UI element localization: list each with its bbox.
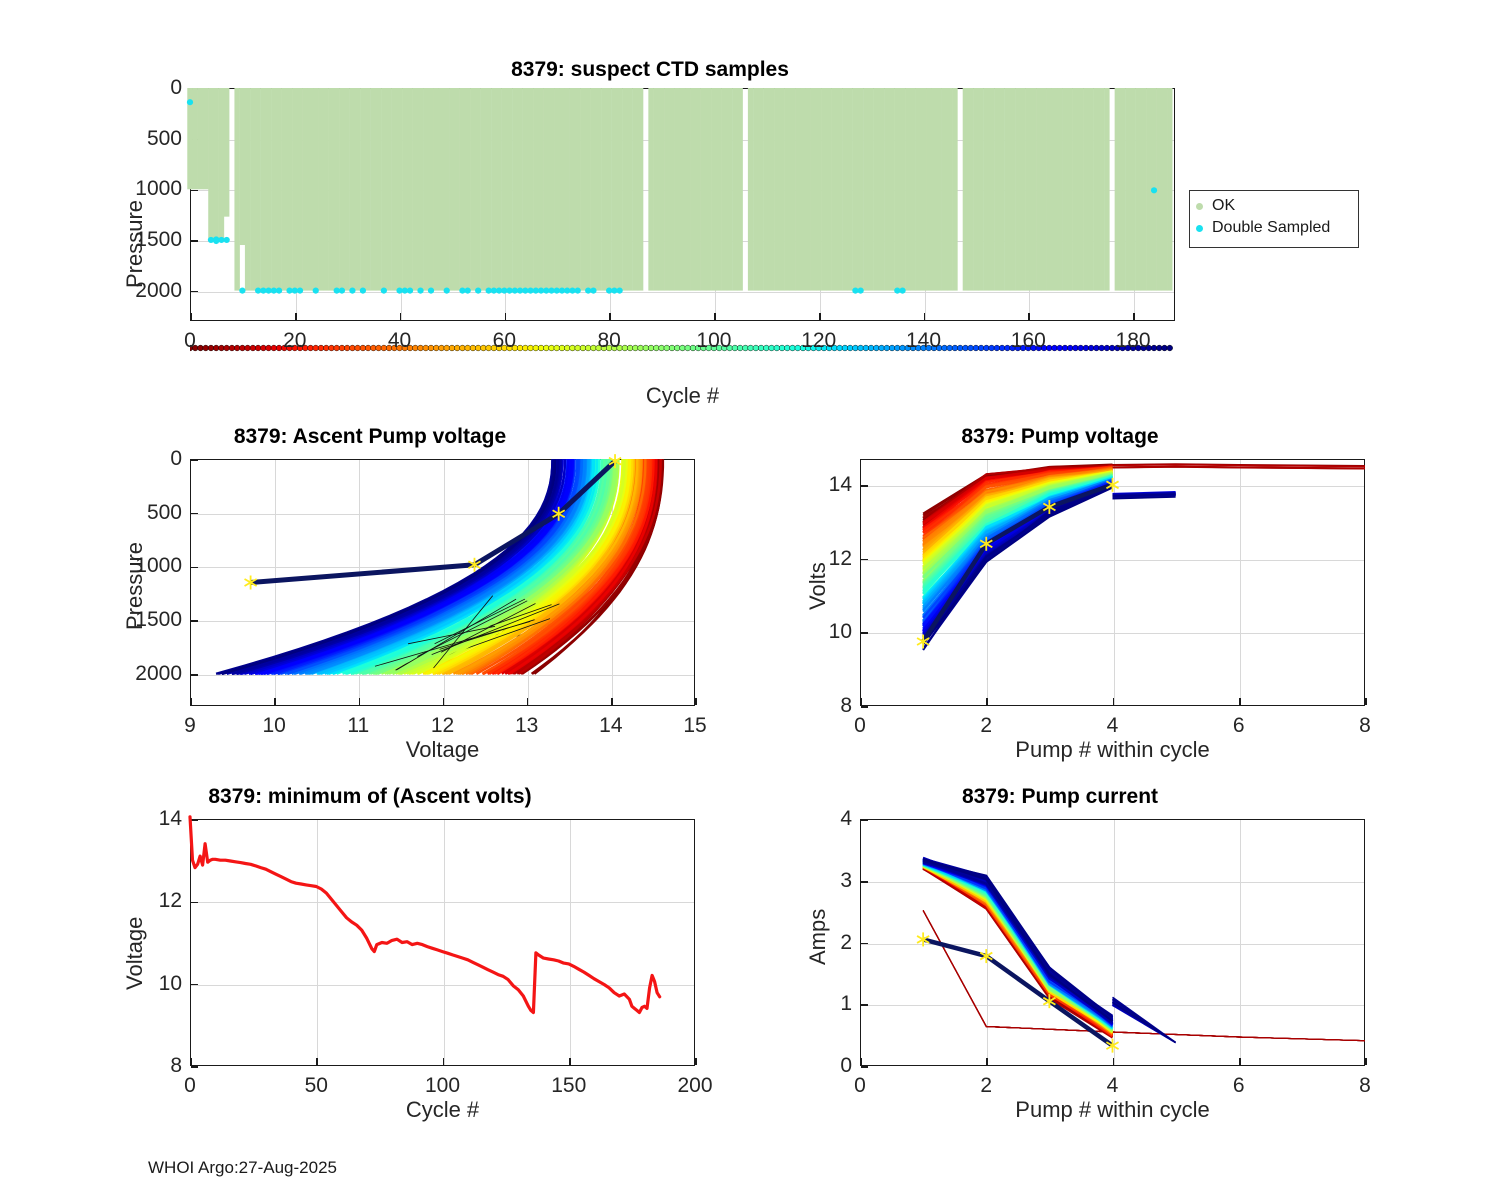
x-tick-label: 12 [431,714,454,738]
ok-band [282,88,287,291]
x-tick-label: 0 [184,329,196,353]
cycle-color-dot [622,345,628,351]
cycle-color-dot [1046,345,1052,351]
x-tick-label: 9 [184,714,196,738]
double-sampled-point [1151,187,1157,193]
ok-band [732,88,737,291]
x-tick-label: 4 [1107,1074,1119,1098]
ok-band [999,88,1004,291]
cycle-color-dot [968,345,974,351]
ok-band [413,88,418,291]
axis-label-pump-number-voltage: Pump # within cycle [860,737,1365,763]
double-sampled-point [444,288,450,294]
cycle-color-dot [842,345,848,351]
series-layer-pump-voltage [860,459,1365,706]
x-tick-label: 0 [854,1074,866,1098]
cycle-color-dot [900,345,906,351]
y-tick-label: 1 [790,992,852,1016]
cycle-color-dot [983,345,989,351]
ok-band [276,88,281,291]
ok-band [826,88,831,291]
x-tick-label: 60 [493,329,516,353]
cycle-color-dot [648,345,654,351]
series-layer-minimum-ascent-volts [190,819,695,1066]
ok-band [926,88,931,291]
ok-band [994,88,999,291]
panel-ascent-pump-voltage: 8379: Ascent Pump voltage Voltage Pressu… [0,415,720,775]
double-sampled-point [297,288,303,294]
double-sampled-point [899,288,905,294]
ok-band [371,88,376,291]
cycle-color-dot [564,345,570,351]
ok-band [863,88,868,291]
ok-band [858,88,863,291]
ok-band [764,88,769,291]
panel-title-pump-current: 8379: Pump current [730,785,1390,809]
ok-band [507,88,512,291]
ok-band [675,88,680,291]
ok-band [617,88,622,291]
cycle-color-dot [554,345,560,351]
ok-band [449,88,454,291]
cycle-color-dot [203,345,209,351]
cycle-color-dot [664,345,670,351]
ok-band [648,88,653,291]
ok-band [1104,88,1109,291]
double-sampled-point [428,288,434,294]
x-tick-label: 40 [388,329,411,353]
ok-band [612,88,617,291]
ok-band [266,88,271,291]
x-tick-label: 10 [262,714,285,738]
cycle-color-dot [973,345,979,351]
y-tick-label: 0 [790,1054,852,1078]
cycle-color-dot [1099,345,1105,351]
ok-band [198,88,203,189]
x-tick-label: 13 [515,714,538,738]
double-sampled-point [575,288,581,294]
ok-band [240,88,245,245]
ok-band [292,88,297,291]
cycle-color-dot [224,345,230,351]
cycle-color-dot [255,345,261,351]
ok-band [365,88,370,291]
ok-band [916,88,921,291]
ok-band [444,88,449,291]
double-sampled-point [213,238,219,244]
cycle-color-dot [1094,345,1100,351]
ok-band [271,88,276,291]
cycle-color-dot [470,345,476,351]
cycle-color-dot [942,345,948,351]
cycle-color-dot [329,345,335,351]
ok-band [664,88,669,291]
ok-band [837,88,842,291]
cycle-color-dot [234,345,240,351]
x-tick-label: 100 [425,1074,460,1098]
ok-band [481,88,486,291]
highlight-trace [923,939,1112,1045]
x-tick-label: 0 [854,714,866,738]
ok-band [423,88,428,291]
cycle-color-dot [339,345,345,351]
legend-suspect-ctd: OK Double Sampled [1189,190,1359,248]
ok-band [313,88,318,291]
double-sampled-point [224,237,230,243]
panel-pump-current: 8379: Pump current Pump # within cycle A… [700,775,1420,1145]
ok-band [334,88,339,291]
ok-band [392,88,397,291]
ok-band [952,88,957,291]
y-tick-label: 500 [120,501,182,525]
ok-band [832,88,837,291]
ok-band [402,88,407,291]
ok-band [355,88,360,291]
cycle-color-dot [863,345,869,351]
cycle-color-dot [873,345,879,351]
legend-swatch-double-sampled [1196,225,1203,232]
y-tick-label: 1000 [120,554,182,578]
ok-band [234,88,239,291]
cycle-color-dot [999,345,1005,351]
ok-band [512,88,517,291]
cycle-color-dot [659,345,665,351]
ok-band [779,88,784,291]
cycle-color-dot [685,345,691,351]
x-tick-label: 20 [283,329,306,353]
ok-band [376,88,381,291]
ok-band [716,88,721,291]
y-tick-label: 2 [790,931,852,955]
ok-band [1130,88,1135,291]
ok-band [596,88,601,291]
cycle-color-dot [952,345,958,351]
ok-band [790,88,795,291]
cycle-color-dot [313,345,319,351]
ok-band [654,88,659,291]
ok-band [1136,88,1141,291]
ok-band [973,88,978,291]
ok-band [397,88,402,291]
ok-band [350,88,355,291]
ok-band [1062,88,1067,291]
legend-swatch-ok [1196,203,1203,210]
double-sampled-point [617,288,623,294]
ok-band [428,88,433,291]
ok-band [978,88,983,291]
ok-band [533,88,538,291]
ok-band [538,88,543,291]
y-tick-label: 3 [790,869,852,893]
ok-band [1125,88,1130,291]
ok-band [690,88,695,291]
ok-band [496,88,501,291]
ok-band [339,88,344,291]
ok-band [806,88,811,291]
ok-band [711,88,716,291]
axis-label-voltage-ascent: Voltage [190,737,695,763]
double-sampled-point [349,288,355,294]
ok-band [884,88,889,291]
series-layer-ascent-pump-voltage [190,459,695,706]
y-tick-label: 4 [790,807,852,831]
minimum-ascent-volts-line [190,817,660,1013]
axis-label-cycle-number-min: Cycle # [190,1097,695,1123]
y-tick-label: 12 [790,547,852,571]
cycle-color-dot [690,345,696,351]
footer-credit: WHOI Argo:27-Aug-2025 [148,1158,337,1178]
cycle-color-dot [308,345,314,351]
cycle-color-dot [276,345,282,351]
cycle-color-dot [271,345,277,351]
double-sampled-point [590,288,596,294]
cycle-color-dot [318,345,324,351]
ok-band [303,88,308,291]
panel-title-ascent-pump-voltage: 8379: Ascent Pump voltage [40,425,700,449]
cycle-color-dot [1004,345,1010,351]
cycle-color-dot [428,345,434,351]
cycle-color-dot [444,345,450,351]
ok-band [1094,88,1099,291]
cycle-color-dot [559,345,565,351]
ok-band [1005,88,1010,291]
cycle-color-dot [1151,345,1157,351]
x-tick-label: 160 [1011,329,1046,353]
cycle-color-dot [522,345,528,351]
y-tick-label: 8 [790,694,852,718]
ok-band [811,88,816,291]
cycle-color-dot [643,345,649,351]
cycle-color-dot [412,345,418,351]
ok-band [889,88,894,291]
x-tick-label: 8 [1359,714,1371,738]
y-tick-label: 8 [120,1054,182,1078]
x-tick-label: 2 [980,1074,992,1098]
ok-band [758,88,763,291]
cycle-color-dot [994,345,1000,351]
x-tick-label: 150 [551,1074,586,1098]
ok-band [853,88,858,291]
cycle-color-dot [737,345,743,351]
ok-band [517,88,522,291]
double-sampled-point [313,288,319,294]
ok-band [795,88,800,291]
cycle-color-dot [381,345,387,351]
legend-label-double-sampled: Double Sampled [1212,219,1330,237]
ok-band [874,88,879,291]
cycle-color-dot [868,345,874,351]
cycle-color-dot [779,345,785,351]
ok-band [1120,88,1125,291]
x-tick-label: 14 [599,714,622,738]
ok-band [785,88,790,291]
ok-band [601,88,606,291]
ok-band [219,88,224,240]
cycle-color-dot [591,345,597,351]
cycle-color-dot [239,345,245,351]
cycle-color-dot [748,345,754,351]
ok-band [622,88,627,291]
cycle-color-dot [1156,345,1162,351]
double-sampled-point [239,288,245,294]
cycle-color-dot [344,345,350,351]
ok-band [659,88,664,291]
cycle-color-dot [460,345,466,351]
series-layer-pump-current [860,819,1365,1066]
ok-band [921,88,926,291]
cycle-color-dot [439,345,445,351]
ok-band [329,88,334,291]
x-tick-label: 4 [1107,714,1119,738]
cycle-color-dot [784,345,790,351]
cycle-color-dot [989,345,995,351]
double-sampled-point [339,288,345,294]
ok-band [737,88,742,291]
ok-band [695,88,700,291]
cycle-color-dot [543,345,549,351]
x-tick [695,698,697,705]
ok-band [627,88,632,291]
pump-current-tail [1113,1003,1176,1043]
double-sampled-point [276,288,282,294]
ok-band [381,88,386,291]
y-tick-label: 2000 [120,662,182,686]
cycle-color-dot [963,345,969,351]
cycle-color-dot [758,345,764,351]
x-tick-label: 8 [1359,1074,1371,1098]
cycle-color-dot [528,345,534,351]
axis-label-pump-number-current: Pump # within cycle [860,1097,1365,1123]
cycle-color-dot [486,345,492,351]
cycle-color-dot [774,345,780,351]
cycle-color-dot [266,345,272,351]
cycle-color-dot [837,345,843,351]
double-sampled-point [465,288,471,294]
y-tick-label: 2000 [120,279,182,303]
ok-band [669,88,674,291]
ok-band [439,88,444,291]
cycle-color-dot [1162,345,1168,351]
cycle-color-dot [475,345,481,351]
cycle-color-dot [763,345,769,351]
ok-band [549,88,554,291]
panel-title-pump-voltage: 8379: Pump voltage [730,425,1390,449]
cycle-color-dot [742,345,748,351]
cycle-color-dot [533,345,539,351]
ok-band [1047,88,1052,291]
cycle-color-dot [213,345,219,351]
ok-band [486,88,491,291]
cycle-color-dot [884,345,890,351]
ok-band [1010,88,1015,291]
ok-band [360,88,365,291]
ok-band [297,88,302,291]
x-tick-label: 180 [1116,329,1151,353]
ok-band [454,88,459,291]
cycle-color-dot [229,345,235,351]
cycle-color-dot [465,345,471,351]
ok-band [570,88,575,291]
ok-band [868,88,873,291]
ok-band [947,88,952,291]
cycle-color-dot [1167,345,1173,351]
ok-band [910,88,915,291]
ok-band [1157,88,1162,291]
cycle-color-dot [638,345,644,351]
x-tick-label: 120 [801,329,836,353]
cycle-color-dot [585,345,591,351]
ok-band [847,88,852,291]
cycle-color-dot [753,345,759,351]
cycle-color-dot [219,345,225,351]
ok-band [1031,88,1036,291]
cycle-color-dot [245,345,251,351]
ok-band [701,88,706,291]
cycle-color-dot [1109,345,1115,351]
y-tick-label: 1000 [120,177,182,201]
ok-band [753,88,758,291]
ok-band [1015,88,1020,291]
cycle-color-dot [732,345,738,351]
cycle-color-dot [418,345,424,351]
ok-band [318,88,323,291]
ok-band [1141,88,1146,291]
double-sampled-point [417,288,423,294]
cycle-color-dot [627,345,633,351]
cycle-color-dot [570,345,576,351]
cycle-color-dot [575,345,581,351]
cycle-color-dot [957,345,963,351]
ok-band [523,88,528,291]
ok-band [1052,88,1057,291]
panel-pump-voltage: 8379: Pump voltage Pump # within cycle V… [700,415,1420,775]
ok-band [580,88,585,291]
double-sampled-point [475,288,481,294]
ok-band [606,88,611,291]
legend-item-double-sampled: Double Sampled [1196,217,1350,239]
x-tick-label: 6 [1233,1074,1245,1098]
cycle-color-dot [517,345,523,351]
cycle-color-dot [250,345,256,351]
ok-band [685,88,690,291]
cycle-color-dot [1062,345,1068,351]
ok-band [475,88,480,291]
x-tick-label: 100 [696,329,731,353]
ok-band [680,88,685,291]
ok-band [407,88,412,291]
cycle-color-dot [365,345,371,351]
cycle-color-dot [481,345,487,351]
ok-band [942,88,947,291]
cycle-color-dot [355,345,361,351]
y-tick [191,1066,198,1068]
cycle-color-dot [632,345,638,351]
axis-label-cycle-number-top: Cycle # [190,383,1175,409]
cycle-color-dot [947,345,953,351]
ok-band [434,88,439,291]
ok-band [722,88,727,291]
cycle-color-dot [795,345,801,351]
ok-band [208,88,213,240]
cycle-color-dot [549,345,555,351]
ok-band [905,88,910,291]
ok-band [554,88,559,291]
cycle-color-dot [653,345,659,351]
ok-band [308,88,313,291]
ok-band [638,88,643,291]
ok-band [250,88,255,291]
ok-band [1099,88,1104,291]
